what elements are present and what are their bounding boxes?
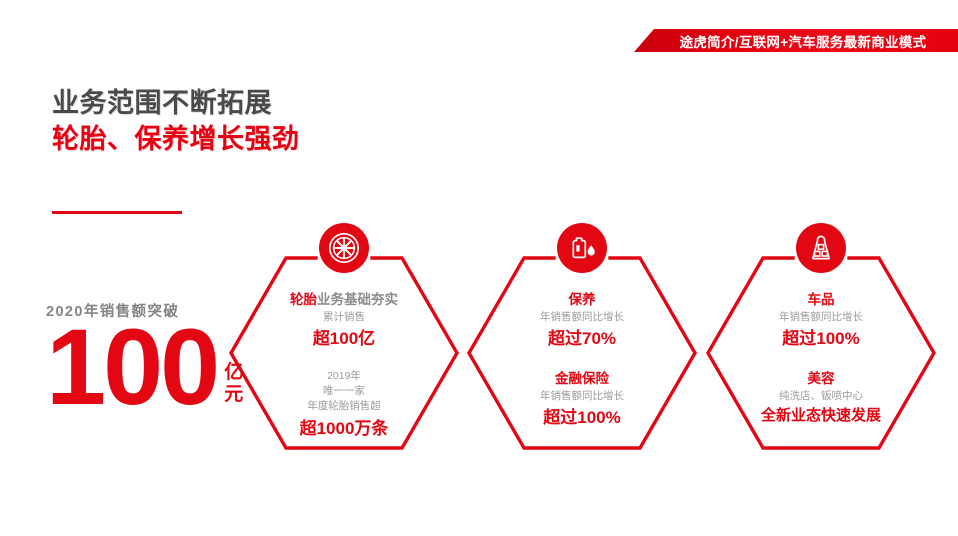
- hex-group-value: 超过100%: [779, 326, 863, 352]
- hexagon-content: 轮胎业务基础夯实 累计销售 超100亿 2019年唯一一家年度轮胎销售超 超10…: [228, 245, 460, 461]
- title-underline-rule: [52, 211, 182, 214]
- hex-group: 金融保险 年销售额同比增长 超过100%: [540, 369, 624, 431]
- hex-group-sub: 年销售额同比增长: [779, 310, 863, 325]
- hex-group-sub: 2019年唯一一家年度轮胎销售超: [300, 369, 389, 415]
- hex-group: 保养 年销售额同比增长 超过70%: [540, 290, 624, 352]
- header-banner-text: 途虎简介/互联网+汽车服务最新商业模式: [680, 31, 927, 51]
- sales-stat-block: 2020年销售额突破 100 亿 元: [46, 300, 246, 419]
- oil-can-icon: [557, 223, 607, 273]
- hex-group-value: 超过100%: [540, 405, 624, 431]
- hex-group-title-gray: 业务基础夯实: [317, 292, 398, 307]
- hex-group: 轮胎业务基础夯实 累计销售 超100亿: [290, 290, 398, 352]
- hex-group-value: 超过70%: [540, 326, 624, 352]
- hex-group: 美容 纯洗店、钣喷中心 全新业态快速发展: [761, 369, 881, 428]
- hex-group-value: 超100亿: [290, 326, 398, 352]
- tire-wheel-icon: [319, 223, 369, 273]
- hexagon-content: 车品 年销售额同比增长 超过100% 美容 纯洗店、钣喷中心 全新业态快速发展: [705, 245, 937, 461]
- page-title-line2: 轮胎、保养增长强劲: [52, 124, 300, 156]
- hex-group-title: 美容: [761, 369, 881, 389]
- hex-group-title: 保养: [540, 290, 624, 310]
- hex-group-title: 车品: [779, 290, 863, 310]
- header-banner: 途虎简介/互联网+汽车服务最新商业模式: [634, 29, 958, 52]
- hexagon-card-tire[interactable]: 轮胎业务基础夯实 累计销售 超100亿 2019年唯一一家年度轮胎销售超 超10…: [228, 245, 460, 461]
- hex-group-sub: 纯洗店、钣喷中心: [761, 389, 881, 404]
- hex-group-sub: 年销售额同比增长: [540, 310, 624, 325]
- hex-group: 2019年唯一一家年度轮胎销售超 超1000万条: [300, 369, 389, 441]
- hexagon-card-car-products[interactable]: 车品 年销售额同比增长 超过100% 美容 纯洗店、钣喷中心 全新业态快速发展: [705, 245, 937, 461]
- hexagon-card-maintenance[interactable]: 保养 年销售额同比增长 超过70% 金融保险 年销售额同比增长 超过100%: [466, 245, 698, 461]
- hex-group-sub: 年销售额同比增长: [540, 389, 624, 404]
- slide-canvas: 途虎简介/互联网+汽车服务最新商业模式 业务范围不断拓展 轮胎、保养增长强劲 2…: [0, 0, 958, 536]
- hexagon-group: 轮胎业务基础夯实 累计销售 超100亿 2019年唯一一家年度轮胎销售超 超10…: [228, 245, 950, 477]
- sales-stat-number: 100: [46, 315, 217, 419]
- page-title: 业务范围不断拓展 轮胎、保养增长强劲: [52, 88, 300, 156]
- hex-group-title: 轮胎业务基础夯实: [290, 290, 398, 310]
- hex-group-value: 全新业态快速发展: [761, 405, 881, 428]
- car-products-shelf-icon: [796, 223, 846, 273]
- hexagon-content: 保养 年销售额同比增长 超过70% 金融保险 年销售额同比增长 超过100%: [466, 245, 698, 461]
- sales-stat-row: 100 亿 元: [46, 315, 246, 419]
- hex-group-title-red: 轮胎: [290, 292, 317, 307]
- hex-group: 车品 年销售额同比增长 超过100%: [779, 290, 863, 352]
- hex-group-value: 超1000万条: [300, 416, 389, 442]
- hex-group-sub: 累计销售: [290, 310, 398, 325]
- hex-group-title: 金融保险: [540, 369, 624, 389]
- page-title-line1: 业务范围不断拓展: [52, 88, 300, 120]
